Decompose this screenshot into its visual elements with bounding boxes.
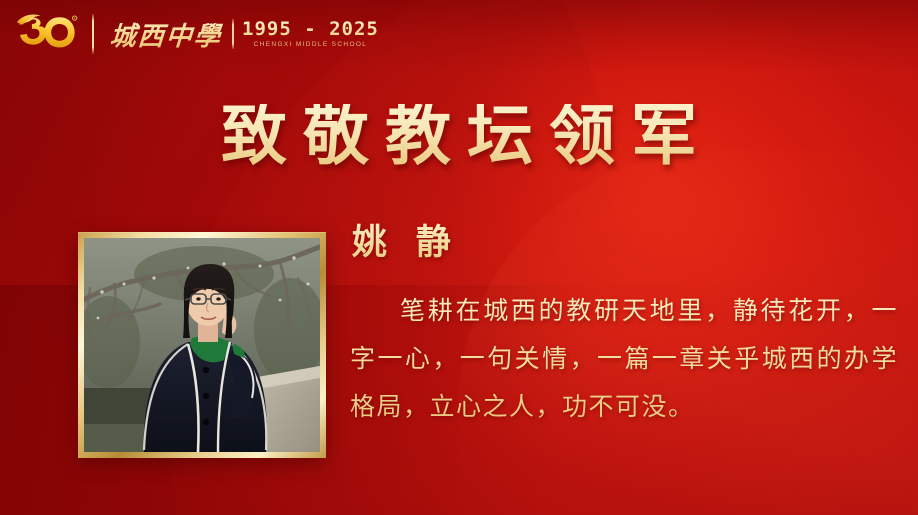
person-name: 姚 静 [352,214,461,265]
honor-slide: R 城西中學 1995 - 2025 CHENGXI MIDDLE SCHOOL… [0,0,918,515]
page-title: 致敬教坛领军 [0,104,918,170]
portrait-photo [84,238,320,452]
brand-rule [232,19,234,49]
anniversary-30-logo-icon: R [16,12,78,56]
svg-text:R: R [74,17,76,21]
anniversary-years-block: 1995 - 2025 CHENGXI MIDDLE SCHOOL [242,20,379,49]
person-bio: 笔耕在城西的教研天地里，静待花开，一字一心，一句关情，一篇一章关乎城西的办学格局… [350,288,898,432]
portrait-frame [78,232,326,458]
school-name-cn: 城西中學 [109,16,226,53]
anniversary-years: 1995 - 2025 [242,20,379,39]
brand-lockup: R 城西中學 1995 - 2025 CHENGXI MIDDLE SCHOOL [12,8,379,60]
brand-divider [92,14,94,54]
school-name-en: CHENGXI MIDDLE SCHOOL [254,42,368,49]
